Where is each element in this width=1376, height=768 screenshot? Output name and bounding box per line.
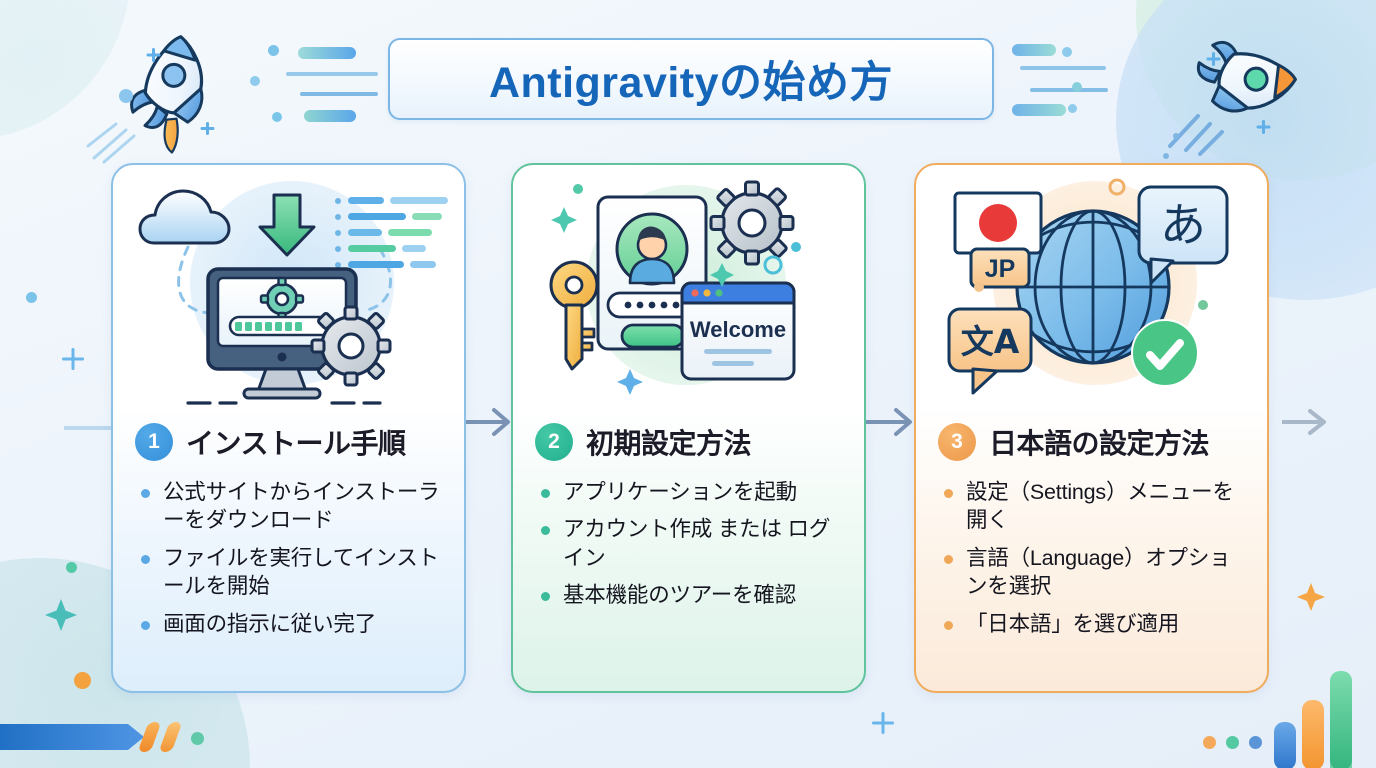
language-illustration: JP あ 文A [916, 165, 1267, 410]
rocket-icon [86, 26, 266, 171]
step-3-header: 3 日本語の設定方法 [916, 410, 1267, 468]
orange-sparkle-icon [1296, 582, 1326, 617]
list-item: アプリケーションを起動 [539, 478, 846, 506]
step-title: 初期設定方法 [586, 422, 751, 462]
list-item: 基本機能のツアーを確認 [539, 581, 846, 609]
step-number-badge: 2 [535, 423, 573, 461]
step-2-bullet-list: アプリケーションを起動 アカウント作成 または ログイン 基本機能のツアーを確認 [513, 468, 864, 610]
step-number-badge: 3 [938, 423, 976, 461]
orange-dot [74, 672, 91, 689]
page-title: Antigravityの始め方 [388, 38, 994, 120]
blue-sparkle-icon [872, 712, 894, 739]
arrow-right-icon [1282, 404, 1338, 445]
blue-dot [1249, 736, 1262, 749]
rocket-icon [1160, 24, 1320, 169]
list-item: アカウント作成 または ログイン [539, 515, 846, 572]
flag-code-label: JP [984, 255, 1015, 283]
step-card-2[interactable]: Welcome 2 初期設定方法 アプリケーションを起動 アカウント作成 または… [511, 163, 866, 693]
blue-bar-short [1274, 722, 1296, 768]
step-title: インストール手順 [186, 422, 405, 462]
list-item: ファイルを実行してインストールを開始 [139, 544, 446, 601]
list-item: 画面の指示に従い完了 [139, 610, 446, 638]
list-item: 「日本語」を選び適用 [942, 610, 1249, 638]
green-dot [191, 732, 204, 745]
setup-illustration: Welcome [513, 165, 864, 410]
blue-dot [26, 292, 37, 303]
step-card-1[interactable]: 1 インストール手順 公式サイトからインストーラーをダウンロード ファイルを実行… [111, 163, 466, 693]
arrow-right-icon [864, 404, 920, 445]
install-illustration [113, 165, 464, 410]
step-card-3[interactable]: JP あ 文A [914, 163, 1269, 693]
step-number-badge: 1 [135, 423, 173, 461]
step-1-header: 1 インストール手順 [113, 410, 464, 468]
blue-sparkle-icon [62, 348, 84, 375]
list-item: 設定（Settings）メニューを開く [942, 478, 1249, 535]
green-bar-tall [1330, 671, 1352, 768]
page-title-text: Antigravityの始め方 [489, 48, 893, 110]
orange-dot [1203, 736, 1216, 749]
step-2-header: 2 初期設定方法 [513, 410, 864, 468]
green-dot [66, 562, 77, 573]
green-dot [1226, 736, 1239, 749]
orange-bar-medium [1302, 700, 1324, 768]
step-title: 日本語の設定方法 [989, 422, 1209, 462]
browser-welcome-label: Welcome [689, 317, 785, 342]
kana-label: あ [1160, 198, 1206, 252]
teal-sparkle-icon [44, 598, 78, 637]
list-item: 公式サイトからインストーラーをダウンロード [139, 478, 446, 535]
step-3-bullet-list: 設定（Settings）メニューを開く 言語（Language）オプションを選択… [916, 468, 1267, 638]
infographic-canvas: Antigravityの始め方 [0, 0, 1376, 768]
translate-label: 文A [960, 322, 1019, 361]
step-1-bullet-list: 公式サイトからインストーラーをダウンロード ファイルを実行してインストールを開始… [113, 468, 464, 638]
arrow-right-icon [462, 404, 518, 445]
list-item: 言語（Language）オプションを選択 [942, 544, 1249, 601]
